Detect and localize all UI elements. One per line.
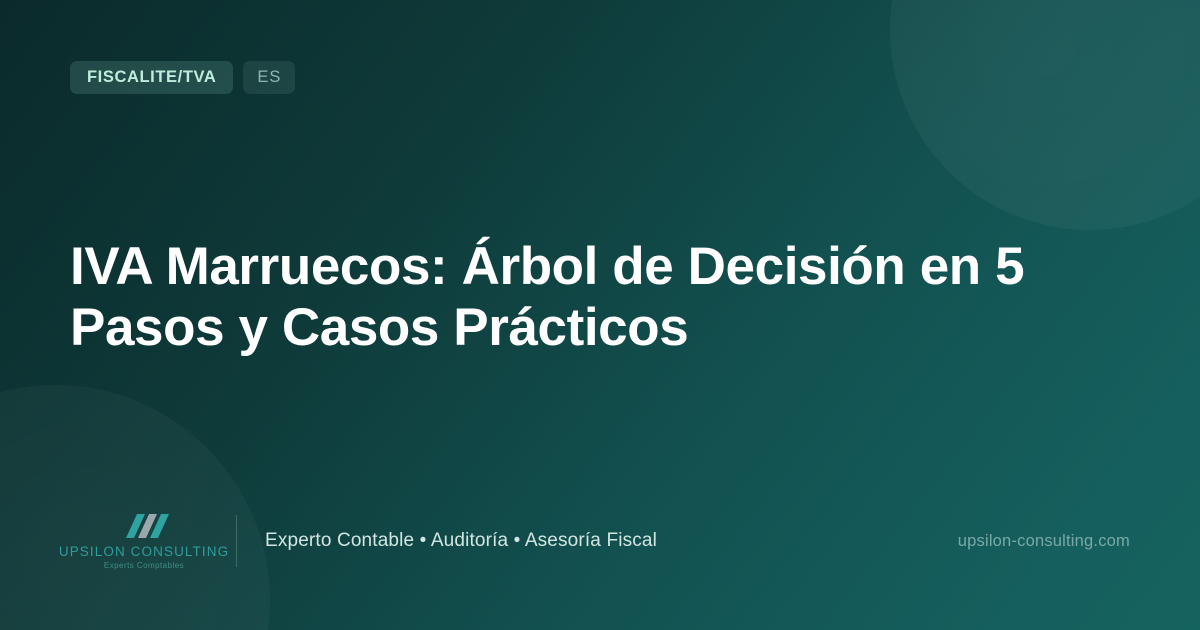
upsilon-slashes-icon [116,512,172,543]
logo-wordmark: UPSILON CONSULTING [59,545,229,560]
brand-logo[interactable]: UPSILON CONSULTING Experts Comptables [70,512,218,571]
category-badge[interactable]: FISCALITE/TVA [70,61,233,94]
social-share-card: FISCALITE/TVA ES IVA Marruecos: Árbol de… [0,0,1200,630]
logo-subtitle: Experts Comptables [104,562,184,571]
website-url[interactable]: upsilon-consulting.com [958,532,1130,551]
footer-divider [236,515,237,567]
circle-decoration-bottom-left [0,385,270,630]
footer-bar: UPSILON CONSULTING Experts Comptables Ex… [70,510,1130,572]
circle-decoration-top-right [890,0,1200,230]
services-tagline: Experto Contable • Auditoría • Asesoría … [265,530,657,552]
badge-group: FISCALITE/TVA ES [70,61,295,94]
page-title: IVA Marruecos: Árbol de Decisión en 5 Pa… [70,236,1145,359]
diagonal-light-streak [462,0,1200,42]
language-badge[interactable]: ES [243,61,295,94]
